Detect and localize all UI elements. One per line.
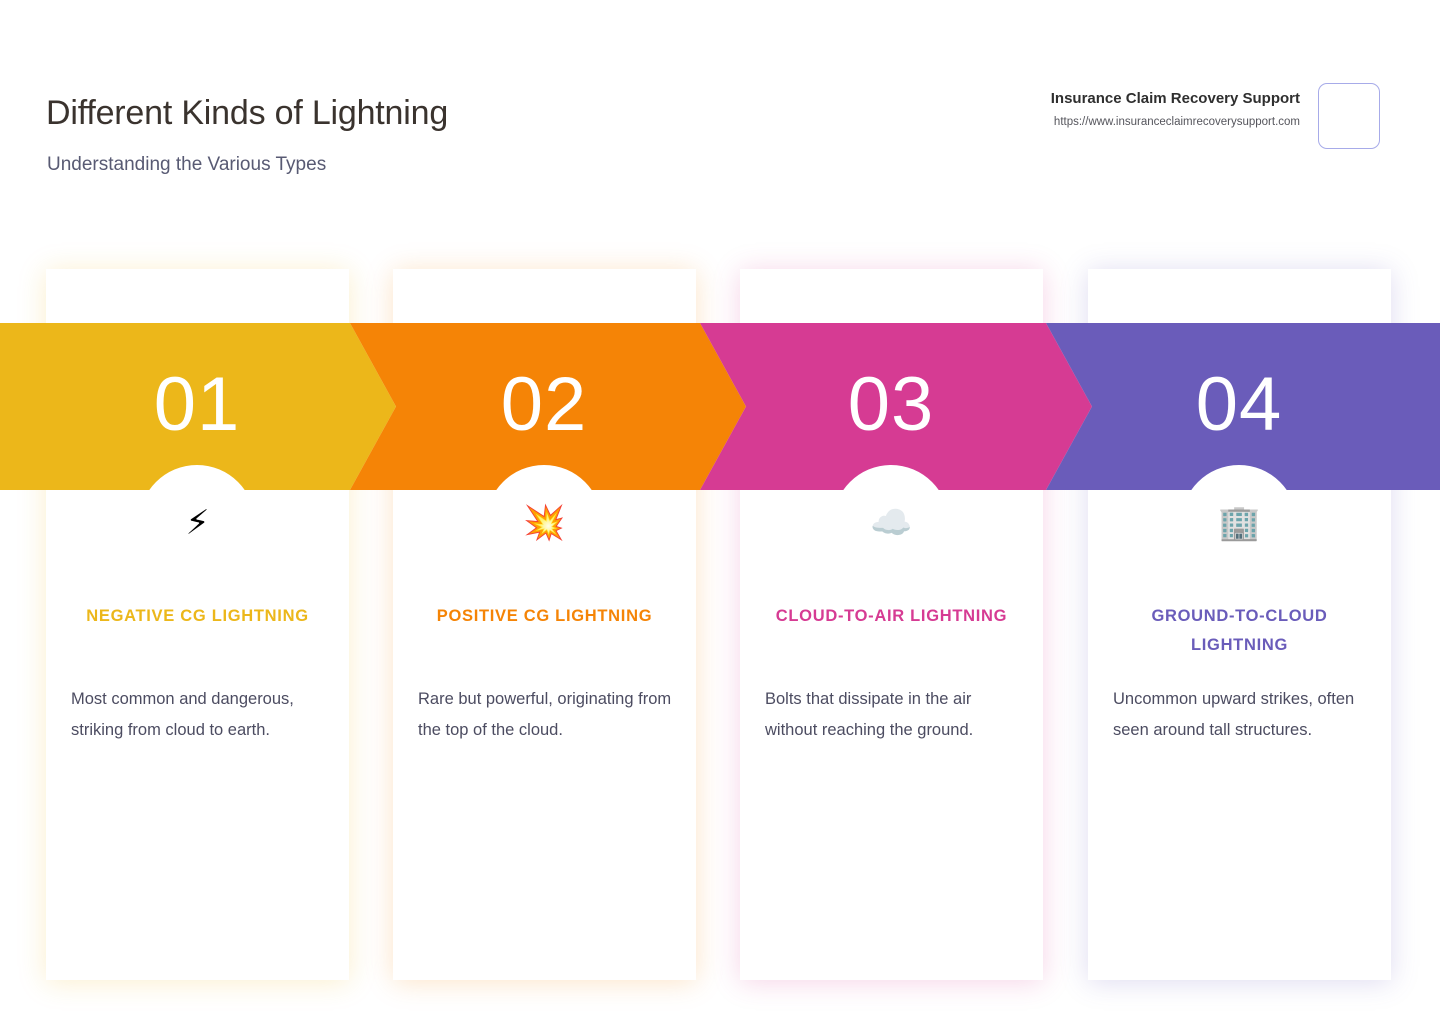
- card-description: Rare but powerful, originating from the …: [418, 684, 674, 745]
- lightning-type-card-01[interactable]: ⚡NEGATIVE CG LIGHTNINGMost common and da…: [46, 269, 349, 980]
- office-building-icon: 🏢: [1088, 506, 1391, 540]
- brand-name: Insurance Claim Recovery Support: [1051, 90, 1300, 107]
- lightning-type-card-03[interactable]: ☁️CLOUD-TO-AIR LIGHTNINGBolts that dissi…: [740, 269, 1043, 980]
- cloud-icon: ☁️: [740, 506, 1043, 540]
- card-description: Uncommon upward strikes, often seen arou…: [1113, 684, 1369, 745]
- lightning-type-card-02[interactable]: 💥POSITIVE CG LIGHTNINGRare but powerful,…: [393, 269, 696, 980]
- card-title: CLOUD-TO-AIR LIGHTNING: [766, 602, 1017, 631]
- card-description: Bolts that dissipate in the air without …: [765, 684, 1021, 745]
- card-title: NEGATIVE CG LIGHTNING: [72, 602, 323, 631]
- brand-block: Insurance Claim Recovery Support https:/…: [1051, 90, 1300, 128]
- page-title: Different Kinds of Lightning: [46, 94, 448, 133]
- lightning-type-card-04[interactable]: 🏢GROUND-TO-CLOUD LIGHTNINGUncommon upwar…: [1088, 269, 1391, 980]
- card-title: POSITIVE CG LIGHTNING: [419, 602, 670, 631]
- card-description: Most common and dangerous, striking from…: [71, 684, 327, 745]
- lightning-bolt-icon: ⚡: [46, 506, 349, 540]
- card-title: GROUND-TO-CLOUD LIGHTNING: [1114, 602, 1365, 661]
- page-subtitle: Understanding the Various Types: [47, 154, 326, 176]
- brand-logo-placeholder: [1318, 83, 1380, 149]
- collision-explosion-icon: 💥: [393, 506, 696, 540]
- brand-url[interactable]: https://www.insuranceclaimrecoverysuppor…: [1051, 116, 1300, 128]
- page-header: Different Kinds of Lightning Understandi…: [0, 0, 1440, 240]
